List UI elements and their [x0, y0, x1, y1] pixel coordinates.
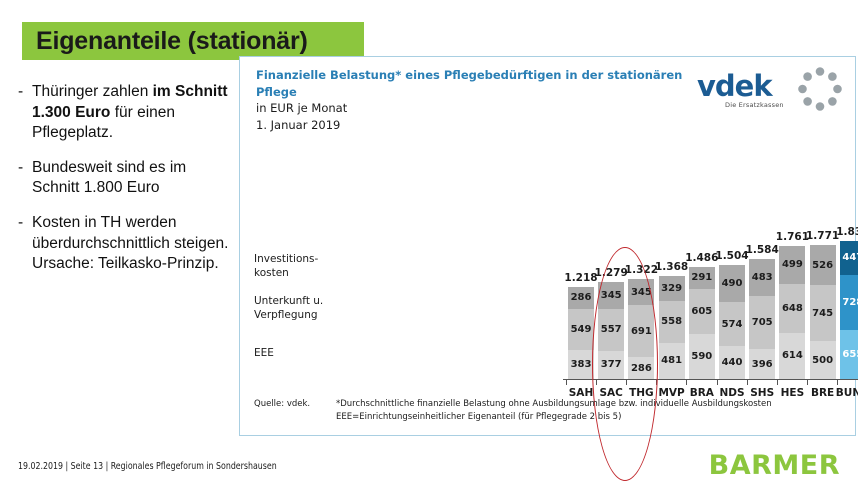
bar-segment-investitionskosten: 499	[779, 246, 805, 284]
series-label-eee: EEE	[254, 347, 346, 361]
bar-segment-unterkunft: 745	[810, 285, 836, 341]
bar-mvp[interactable]: 481558329	[659, 276, 685, 379]
bar-segment-eee: 377	[598, 351, 624, 379]
bar-segment-eee: 440	[719, 346, 745, 379]
bar-segment-investitionskosten: 526	[810, 245, 836, 285]
chart-footnotes: *Durchschnittliche finanzielle Belastung…	[336, 398, 836, 424]
x-axis-tick	[566, 380, 567, 385]
x-axis-tick	[777, 380, 778, 385]
bullet-item: -Kosten in TH werden überdurchschnittlic…	[18, 213, 230, 275]
bar-total-label: 1.218	[564, 272, 598, 284]
bar-segment-eee: 655	[840, 330, 858, 379]
bar-bund[interactable]: 655728447	[840, 241, 858, 379]
bar-segment-eee: 286	[628, 357, 654, 379]
bar-segment-eee: 614	[779, 333, 805, 379]
bar-total-label: 1.486	[685, 252, 719, 264]
bar-segment-unterkunft: 574	[719, 302, 745, 345]
bar-segment-investitionskosten: 329	[659, 276, 685, 301]
bar-thg[interactable]: 286691345	[628, 279, 654, 379]
x-axis-tick	[837, 380, 838, 385]
bullet-list: -Thüringer zahlen im Schnitt 1.300 Euro …	[18, 82, 230, 289]
x-axis-tick	[626, 380, 627, 385]
bar-bra[interactable]: 590605291	[689, 267, 715, 379]
bar-segment-unterkunft: 557	[598, 309, 624, 351]
chart-card: Finanzielle Belastung* eines Pflegebedür…	[239, 56, 856, 436]
bar-segment-investitionskosten: 483	[749, 259, 775, 295]
bar-segment-investitionskosten: 291	[689, 267, 715, 289]
x-axis-tick	[747, 380, 748, 385]
bar-total-label: 1.322	[624, 264, 658, 276]
chart-footnote-1: *Durchschnittliche finanzielle Belastung…	[336, 398, 836, 411]
bar-sac[interactable]: 377557345	[598, 282, 624, 379]
bullet-dash: -	[18, 82, 32, 144]
page-title: Eigenanteile (stationär)	[22, 29, 308, 54]
bar-total-label: 1.830	[836, 226, 858, 238]
chart-footnote-2: EEE=Einrichtungseinheitlicher Eigenantei…	[336, 411, 836, 424]
bar-segment-investitionskosten: 490	[719, 265, 745, 302]
x-axis-tick	[807, 380, 808, 385]
x-axis-tick	[596, 380, 597, 385]
bar-sah[interactable]: 383549286	[568, 287, 594, 379]
bullet-text: Thüringer zahlen im Schnitt 1.300 Euro f…	[32, 82, 230, 144]
x-axis-tick	[656, 380, 657, 385]
plot-area: Investitions-kosten Unterkunft u.Verpfle…	[240, 57, 857, 437]
bar-hes[interactable]: 614648499	[779, 246, 805, 379]
slide-footer-text: 19.02.2019 | Seite 13 | Regionales Pfleg…	[18, 461, 277, 472]
bar-total-label: 1.771	[806, 230, 840, 242]
bar-segment-unterkunft: 648	[779, 284, 805, 333]
x-axis-tick	[717, 380, 718, 385]
bar-segment-unterkunft: 728	[840, 275, 858, 330]
bar-segment-eee: 590	[689, 334, 715, 379]
bar-segment-unterkunft: 691	[628, 305, 654, 357]
bullet-dash: -	[18, 158, 32, 199]
chart-source: Quelle: vdek.	[254, 399, 310, 409]
bullet-text: Kosten in TH werden überdurchschnittlich…	[32, 213, 230, 275]
bar-total-label: 1.504	[715, 250, 749, 262]
bar-nds[interactable]: 440574490	[719, 265, 745, 379]
slide-title-banner: Eigenanteile (stationär)	[22, 22, 364, 60]
bar-segment-unterkunft: 605	[689, 289, 715, 335]
bar-shs[interactable]: 396705483	[749, 259, 775, 379]
bar-segment-eee: 500	[810, 341, 836, 379]
bar-total-label: 1.761	[775, 231, 809, 243]
bar-segment-investitionskosten: 447	[840, 241, 858, 275]
bar-segment-investitionskosten: 286	[568, 287, 594, 309]
bar-segment-unterkunft: 558	[659, 301, 685, 343]
series-label-investitionskosten: Investitions-kosten	[254, 253, 346, 280]
bar-segment-unterkunft: 549	[568, 309, 594, 350]
bar-segment-eee: 481	[659, 343, 685, 379]
bar-segment-eee: 383	[568, 350, 594, 379]
barmer-logo: BARMER	[709, 450, 840, 481]
bar-segment-eee: 396	[749, 349, 775, 379]
series-label-unterkunft-verpflegung: Unterkunft u.Verpflegung	[254, 295, 346, 322]
bar-segment-investitionskosten: 345	[598, 282, 624, 308]
bullet-dash: -	[18, 213, 32, 275]
bar-total-label: 1.279	[594, 267, 628, 279]
bullet-text: Bundesweit sind es im Schnitt 1.800 Euro	[32, 158, 230, 199]
x-axis-tick	[686, 380, 687, 385]
bullet-item: -Thüringer zahlen im Schnitt 1.300 Euro …	[18, 82, 230, 144]
bar-segment-investitionskosten: 345	[628, 279, 654, 305]
bar-total-label: 1.368	[655, 261, 689, 273]
x-axis-label-bund: BUND	[836, 387, 858, 399]
bullet-item: -Bundesweit sind es im Schnitt 1.800 Eur…	[18, 158, 230, 199]
bar-segment-unterkunft: 705	[749, 296, 775, 349]
x-axis-line	[563, 379, 858, 380]
bar-bre[interactable]: 500745526	[810, 245, 836, 379]
bar-total-label: 1.584	[745, 244, 779, 256]
